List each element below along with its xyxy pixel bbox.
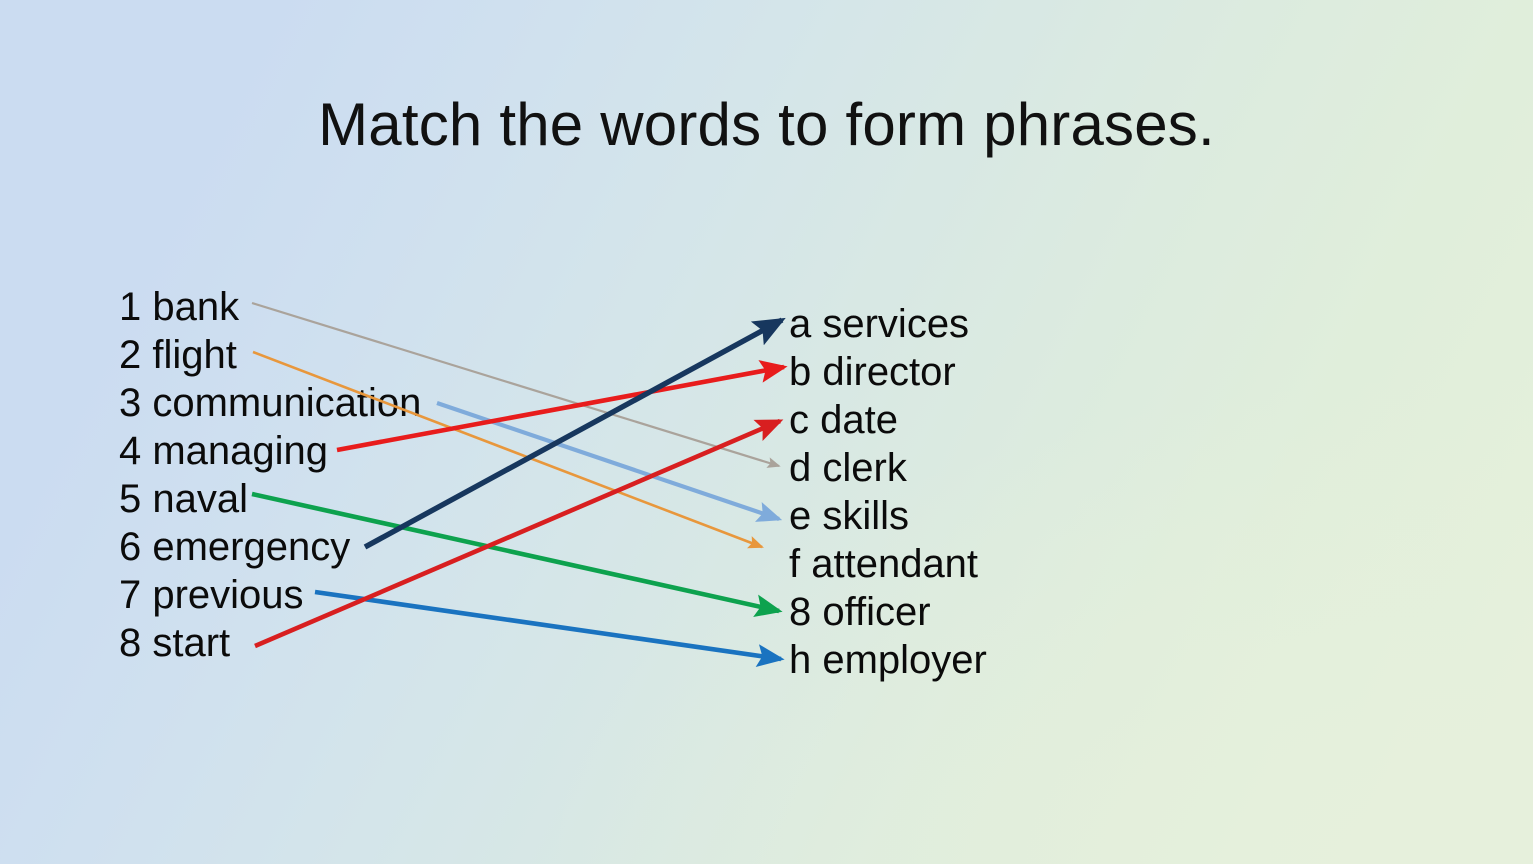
- right-item-b[interactable]: b director: [789, 348, 987, 396]
- left-item-6[interactable]: 6 emergency: [119, 523, 421, 571]
- right-item-e[interactable]: e skills: [789, 492, 987, 540]
- slide-canvas: Match the words to form phrases. 1 bank …: [0, 0, 1533, 864]
- left-item-1[interactable]: 1 bank: [119, 283, 421, 331]
- left-item-8[interactable]: 8 start: [119, 619, 421, 667]
- left-word-column: 1 bank 2 flight 3 communication 4 managi…: [119, 283, 421, 667]
- left-item-3[interactable]: 3 communication: [119, 379, 421, 427]
- right-item-h[interactable]: h employer: [789, 636, 987, 684]
- left-item-4[interactable]: 4 managing: [119, 427, 421, 475]
- right-word-column: a services b director c date d clerk e s…: [789, 300, 987, 684]
- right-item-c[interactable]: c date: [789, 396, 987, 444]
- connector-communication-skills: [437, 403, 779, 519]
- right-item-f[interactable]: f attendant: [789, 540, 987, 588]
- connector-emergency-services: [365, 320, 782, 547]
- left-item-2[interactable]: 2 flight: [119, 331, 421, 379]
- left-item-7[interactable]: 7 previous: [119, 571, 421, 619]
- right-item-d[interactable]: d clerk: [789, 444, 987, 492]
- left-item-5[interactable]: 5 naval: [119, 475, 421, 523]
- page-title: Match the words to form phrases.: [0, 88, 1533, 162]
- right-item-a[interactable]: a services: [789, 300, 987, 348]
- right-item-g[interactable]: 8 officer: [789, 588, 987, 636]
